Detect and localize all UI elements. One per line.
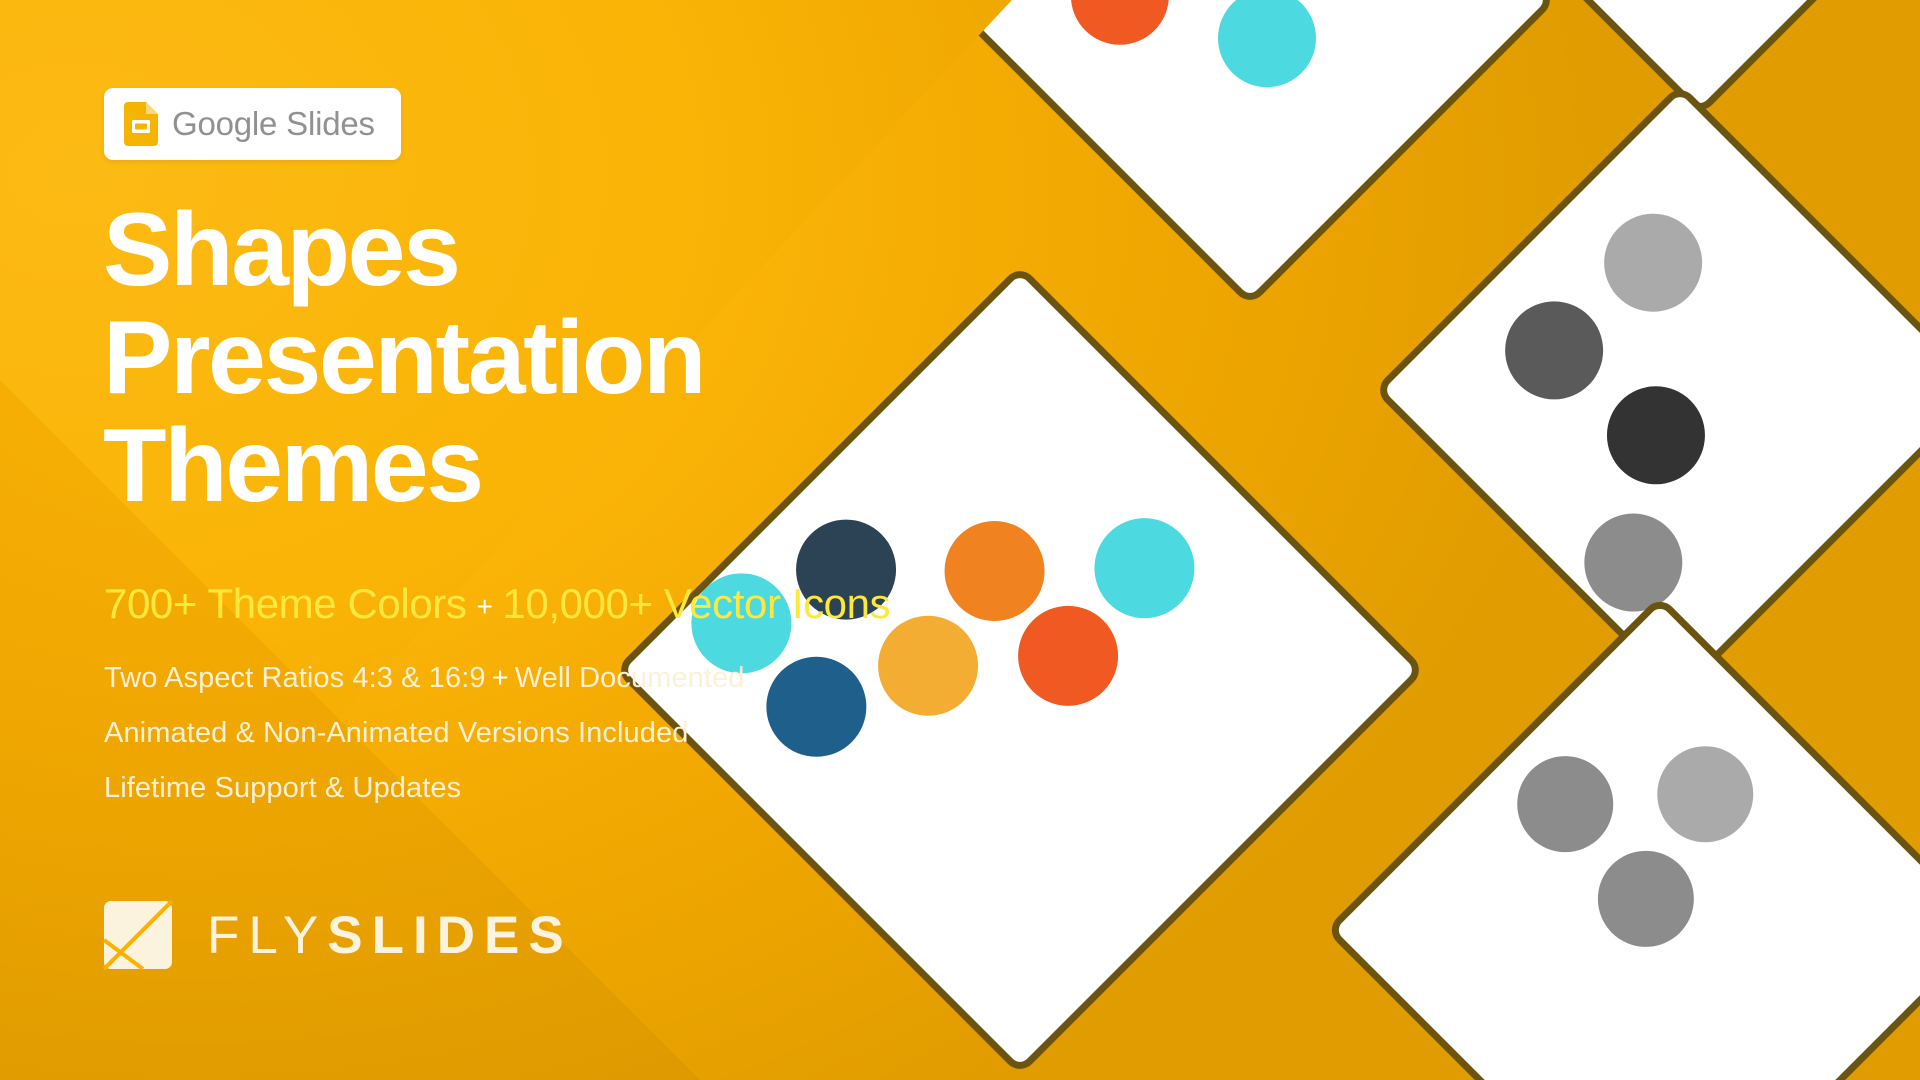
tile-dot [1288, 0, 1427, 6]
google-slides-icon [124, 102, 158, 146]
tile-dot [1485, 281, 1624, 420]
feature-1-left: Two Aspect Ratios 4:3 & 16:9 [104, 662, 486, 694]
feature-2-left: Animated & Non-Animated Versions Include… [104, 717, 688, 749]
promo-banner: Google Slides Shapes Presentation Themes… [0, 0, 1920, 1080]
feature-line-1: Two Aspect Ratios 4:3 & 16:9+Well Docume… [104, 662, 745, 695]
google-slides-badge-label: Google Slides [172, 105, 375, 143]
tile-dot [1578, 831, 1714, 967]
feature-line-3: Lifetime Support & Updates [104, 772, 461, 805]
promo-content: Google Slides Shapes Presentation Themes… [0, 0, 1020, 1080]
logo-text-bold: SLIDES [327, 906, 572, 965]
page-title: Shapes Presentation Themes [103, 196, 704, 520]
tile-bottom-right-gray [1430, 700, 1890, 1080]
google-slides-badge[interactable]: Google Slides [104, 88, 401, 160]
logo-text-thin: FLY [207, 906, 327, 965]
tile-dot [1497, 736, 1633, 872]
tile-top-warm-face [953, 0, 1547, 297]
tagline-left: 700+ Theme Colors [104, 580, 466, 627]
tagline-right: 10,000+ Vector Icons [502, 580, 890, 627]
feature-2-separator: + [688, 717, 717, 749]
tile-dot [1587, 366, 1726, 505]
tile-right-gray-face [1383, 93, 1920, 687]
tile-top-right-blue [1490, 0, 1910, 20]
tile-bottom-right-gray-face [1335, 605, 1920, 1080]
flyslides-wordmark: FLYSLIDES [207, 905, 573, 966]
flyslides-mark-icon [103, 900, 173, 970]
tile-dot [1198, 0, 1337, 107]
tagline: 700+ Theme Colors+10,000+ Vector Icons [104, 580, 890, 628]
tile-dot [1564, 493, 1703, 632]
tagline-separator: + [466, 591, 502, 622]
tile-right-gray [1470, 180, 1890, 600]
tile-dot [1584, 193, 1723, 332]
feature-1-right: Well Documented [515, 662, 745, 694]
tile-top-warm [1040, 0, 1460, 210]
tile-dot [1051, 0, 1190, 65]
feature-3-left: Lifetime Support & Updates [104, 772, 461, 804]
feature-1-separator: + [486, 662, 515, 694]
flyslides-logo[interactable]: FLYSLIDES [103, 900, 573, 970]
tile-dot [1637, 726, 1773, 862]
feature-line-2: Animated & Non-Animated Versions Include… [104, 717, 717, 750]
